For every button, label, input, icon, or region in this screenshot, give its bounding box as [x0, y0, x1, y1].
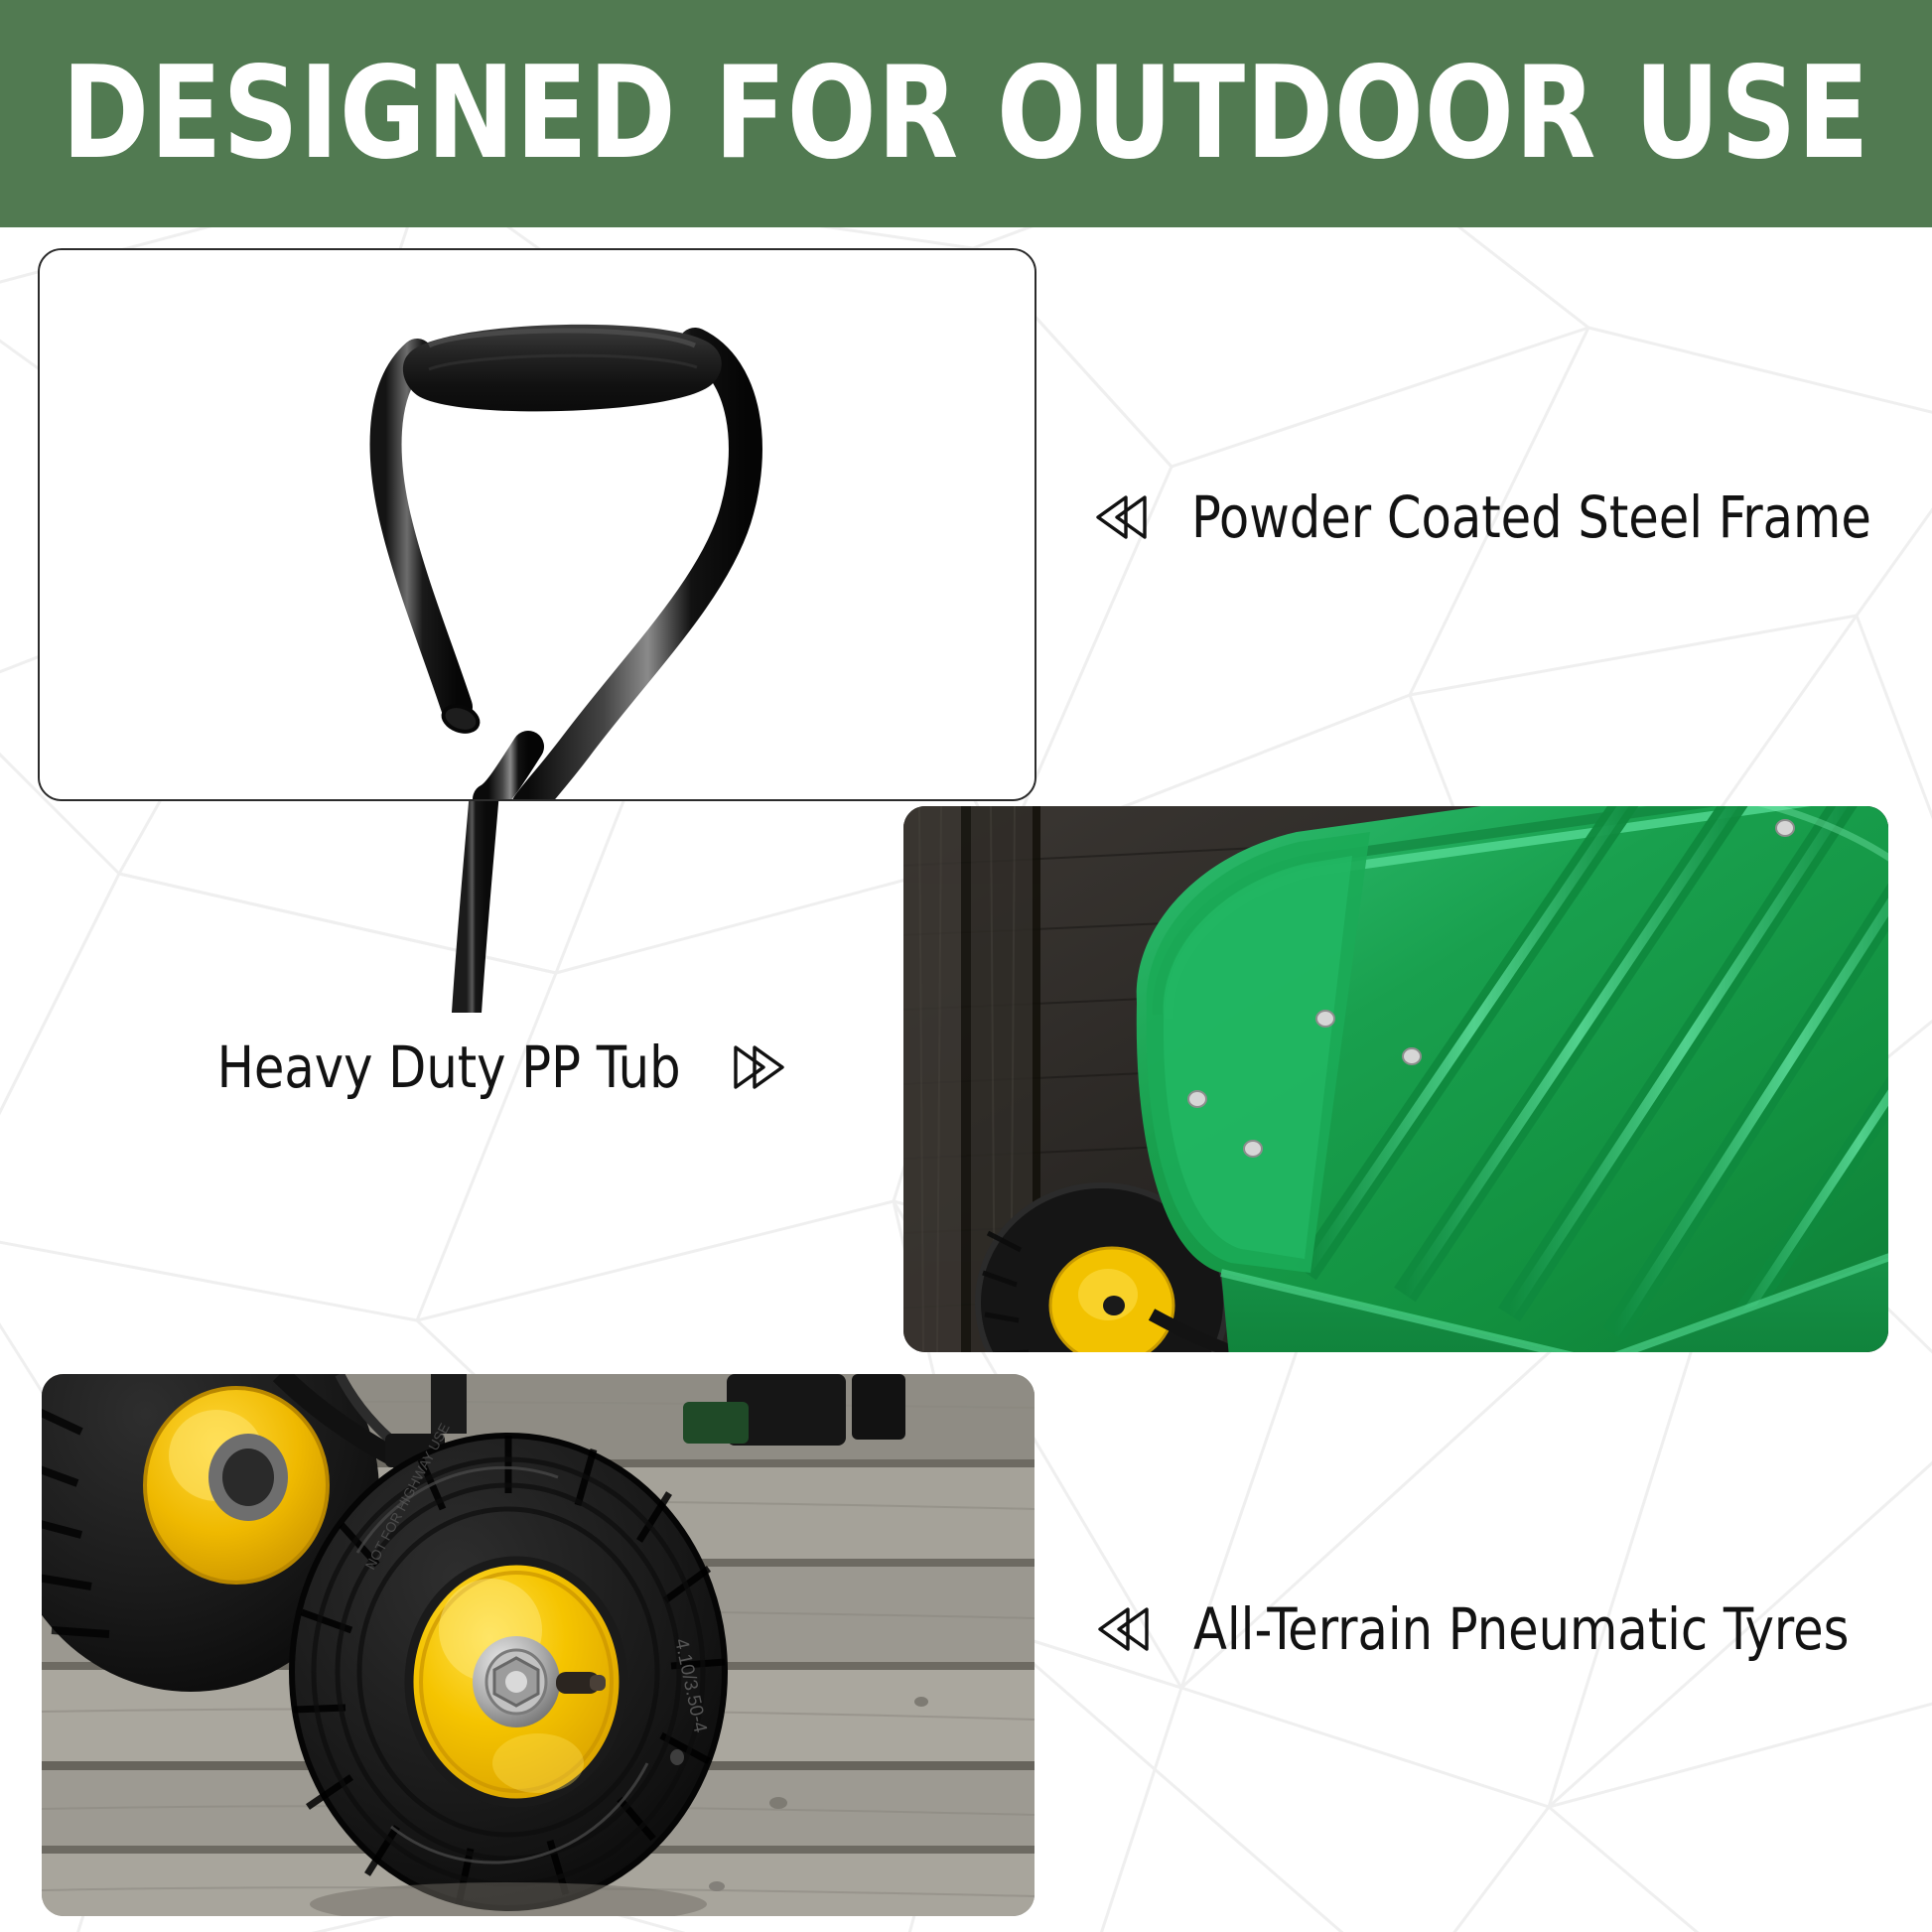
panel-powder-coated-steel-frame: [38, 248, 1036, 801]
callout-label-pneumatic-tyres: All-Terrain Pneumatic Tyres: [1193, 1600, 1849, 1658]
double-triangle-left-icon: [1090, 491, 1152, 543]
pneumatic-tyre-photo: 4.10/3.50-4 NOT FOR HIGHWAY USE: [42, 1374, 1035, 1916]
callout-powder-coated-steel-frame: Powder Coated Steel Frame: [1090, 488, 1907, 546]
double-triangle-left-icon: [1092, 1603, 1154, 1655]
page-title: DESIGNED FOR OUTDOOR USE: [62, 51, 1869, 178]
callout-label-pp-tub: Heavy Duty PP Tub: [217, 1038, 681, 1096]
header-banner: DESIGNED FOR OUTDOOR USE: [0, 0, 1932, 227]
double-triangle-right-icon: [729, 1041, 790, 1093]
panel-heavy-duty-pp-tub: [903, 806, 1888, 1352]
callout-all-terrain-pneumatic-tyres: All-Terrain Pneumatic Tyres: [1092, 1600, 1883, 1658]
panel-all-terrain-pneumatic-tyres: 4.10/3.50-4 NOT FOR HIGHWAY USE: [42, 1374, 1035, 1916]
green-pp-tub-photo: [903, 806, 1888, 1352]
infographic-page: DESIGNED FOR OUTDOOR USE: [0, 0, 1932, 1932]
callout-label-steel-frame: Powder Coated Steel Frame: [1191, 488, 1871, 546]
steel-handle-photo: [40, 250, 1035, 799]
handle-stem-overflow: [38, 784, 1033, 1013]
callout-heavy-duty-pp-tub: Heavy Duty PP Tub: [193, 1038, 790, 1096]
